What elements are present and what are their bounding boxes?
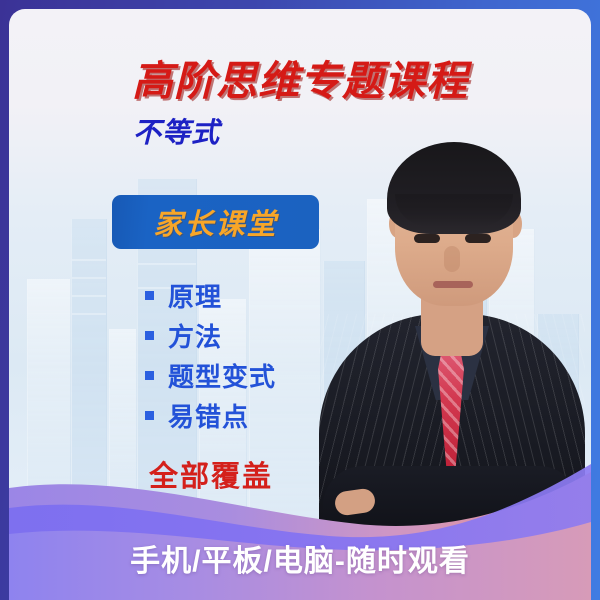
square-bullet-icon — [145, 331, 154, 340]
parent-classroom-badge: 家长课堂 — [112, 195, 319, 249]
feature-label: 题型变式 — [168, 357, 276, 394]
nose — [444, 246, 460, 272]
feature-label: 方法 — [168, 317, 222, 354]
eye-right — [465, 234, 491, 243]
list-item: 原理 — [145, 275, 276, 315]
square-bullet-icon — [145, 411, 154, 420]
list-item: 题型变式 — [145, 355, 276, 395]
course-promo-poster: 高阶思维专题课程 不等式 家长课堂 原理 方法 题型变式 易错点 — [0, 0, 600, 600]
poster-card: 高阶思维专题课程 不等式 家长课堂 原理 方法 题型变式 易错点 — [9, 9, 591, 600]
footer-caption: 手机/平板/电脑-随时观看 — [0, 536, 600, 580]
list-item: 易错点 — [145, 395, 276, 435]
poster-subheadline: 不等式 — [133, 111, 220, 151]
square-bullet-icon — [145, 291, 154, 300]
poster-headline: 高阶思维专题课程 — [9, 47, 591, 107]
hair — [387, 142, 521, 234]
list-item: 方法 — [145, 315, 276, 355]
mouth — [433, 281, 473, 288]
square-bullet-icon — [145, 371, 154, 380]
eye-left — [414, 234, 440, 243]
badge-label: 家长课堂 — [153, 201, 277, 243]
feature-label: 原理 — [168, 277, 222, 314]
feature-list: 原理 方法 题型变式 易错点 — [145, 275, 276, 435]
feature-label: 易错点 — [168, 397, 249, 434]
